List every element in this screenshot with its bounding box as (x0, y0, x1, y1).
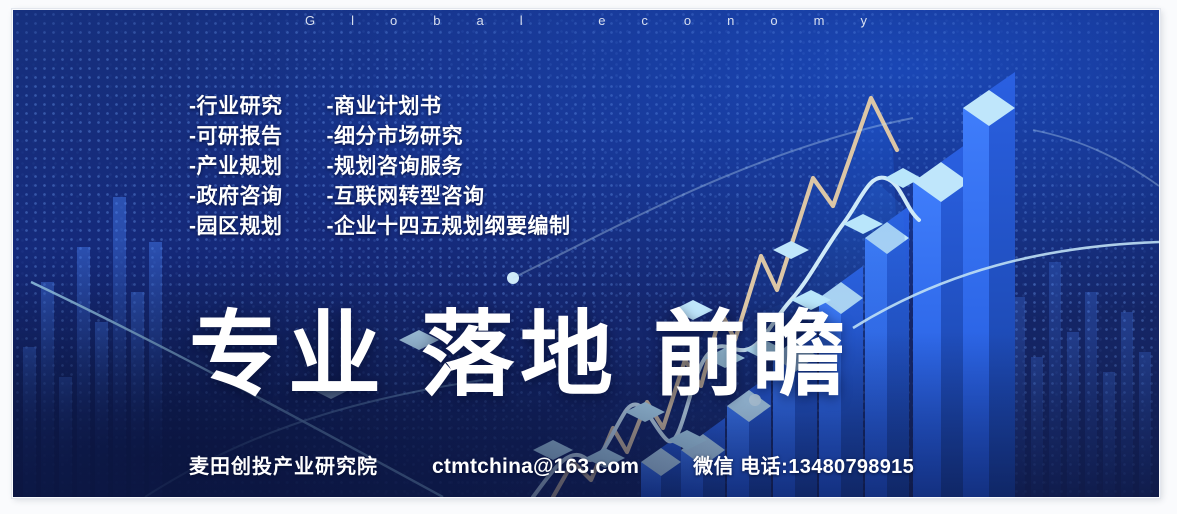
list-item: -行业研究 (189, 92, 283, 122)
list-item: -规划咨询服务 (327, 152, 571, 182)
lower-left-vignette (13, 10, 1159, 497)
headline-word-2: 落地 (421, 303, 619, 407)
service-list-left: -行业研究 -可研报告 -产业规划 -政府咨询 -园区规划 (189, 92, 283, 242)
list-item: -企业十四五规划纲要编制 (327, 212, 571, 242)
list-item: -产业规划 (189, 152, 283, 182)
list-item: -细分市场研究 (327, 122, 571, 152)
image-frame: Global economy -行业研究 -可研报告 -产业规划 -政府咨询 -… (0, 0, 1177, 514)
service-list-right: -商业计划书 -细分市场研究 -规划咨询服务 -互联网转型咨询 -企业十四五规划… (327, 92, 571, 242)
headline-slogan: 专业落地前瞻 (189, 305, 851, 405)
list-item: -园区规划 (189, 212, 283, 242)
organization-name: 麦田创投产业研究院 (189, 450, 378, 479)
top-caption: Global economy (13, 13, 1159, 28)
contact-email[interactable]: ctmtchina@163.com (432, 455, 639, 479)
wechat-phone-label: 微信 电话: (693, 450, 788, 479)
promotional-banner: Global economy -行业研究 -可研报告 -产业规划 -政府咨询 -… (13, 10, 1159, 497)
list-item: -商业计划书 (327, 92, 571, 122)
headline-word-1: 专业 (189, 303, 387, 407)
list-item: -政府咨询 (189, 182, 283, 212)
list-item: -互联网转型咨询 (327, 182, 571, 212)
footer-contact-bar: 麦田创投产业研究院 ctmtchina@163.com 微信 电话: 13480… (189, 450, 914, 479)
service-lists: -行业研究 -可研报告 -产业规划 -政府咨询 -园区规划 -商业计划书 -细分… (189, 92, 571, 242)
list-item: -可研报告 (189, 122, 283, 152)
headline-word-3: 前瞻 (653, 303, 851, 407)
contact-phone[interactable]: 13480798915 (788, 456, 914, 479)
